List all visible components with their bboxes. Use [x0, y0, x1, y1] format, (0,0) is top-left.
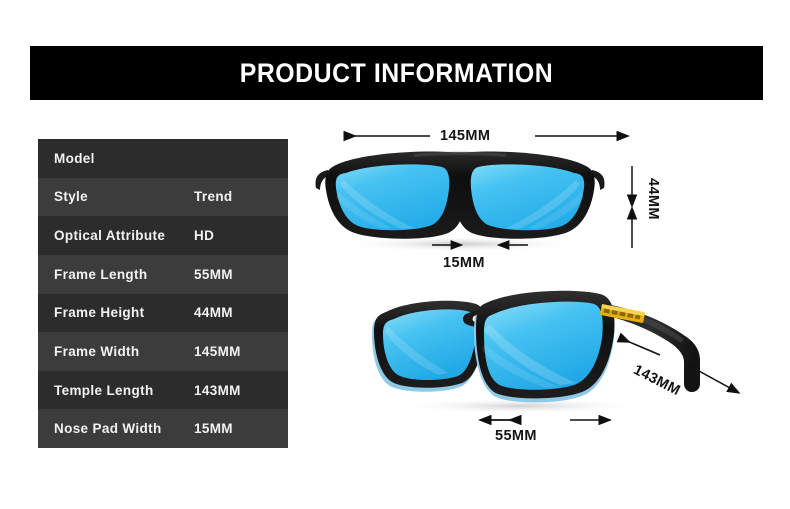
dimension-label-nose-pad-width: 15MM [443, 255, 485, 271]
dimension-label-frame-length: 55MM [495, 428, 537, 444]
dimension-label-frame-height: 44MM [645, 178, 661, 220]
dimension-label-frame-width: 145MM [440, 128, 490, 144]
dimension-annotations: 145MM 44MM 15MM 55MM 143MM [0, 0, 790, 509]
product-information-page: PRODUCT INFORMATION Model Style Trend Op… [0, 0, 790, 509]
